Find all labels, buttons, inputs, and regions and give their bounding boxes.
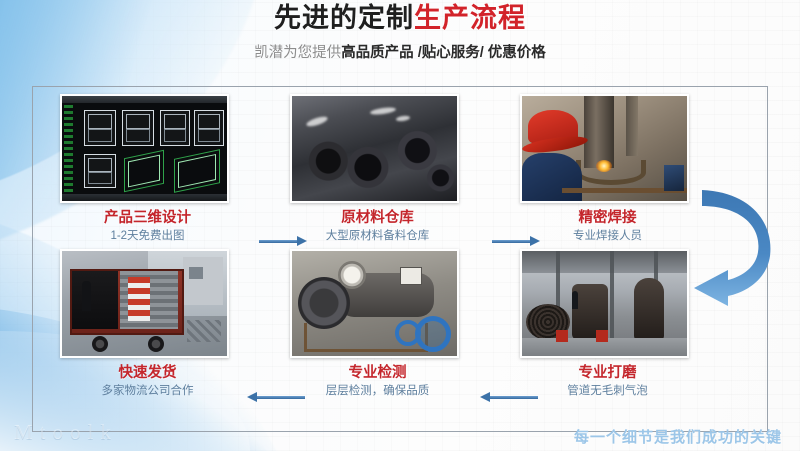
page-subtitle-light: 凯潜为您提供 — [254, 45, 341, 61]
arrow-step5-to-step4 — [247, 392, 305, 402]
step-title-1: 产品三维设计 — [60, 209, 235, 227]
pressure-testing-photo — [290, 249, 459, 358]
page-title: 先进的定制生产流程 — [0, 4, 800, 34]
arrow-step1-to-step2 — [259, 236, 307, 246]
step-title-4: 快速发货 — [60, 364, 235, 382]
step-caption-6: 专业打磨 管道无毛刺气泡 — [520, 364, 695, 399]
workshop-tanks-photo — [520, 249, 689, 358]
footer-note: 每一个细节是我们成功的关键 — [574, 426, 782, 447]
step-caption-4: 快速发货 多家物流公司合作 — [60, 364, 235, 399]
step-card-1: 产品三维设计 1-2天免费出图 — [60, 94, 235, 244]
arrow-curved-row1-to-row2 — [688, 178, 792, 318]
step-card-2: 原材料仓库 大型原材料备料仓库 — [290, 94, 465, 244]
step-card-3: 精密焊接 专业焊接人员 — [520, 94, 695, 244]
header: 先进的定制生产流程 凯潜为您提供高品质产品 /贴心服务/ 优惠价格 — [0, 4, 800, 62]
step-desc-3: 专业焊接人员 — [520, 230, 695, 244]
slide-canvas: 先进的定制生产流程 凯潜为您提供高品质产品 /贴心服务/ 优惠价格 产品三维设计… — [0, 0, 800, 451]
step-caption-1: 产品三维设计 1-2天免费出图 — [60, 209, 235, 244]
step-card-4: 快速发货 多家物流公司合作 — [60, 249, 235, 399]
page-title-dark: 先进的定制 — [274, 3, 414, 33]
arrow-step6-to-step5 — [480, 392, 538, 402]
process-steps-grid: 产品三维设计 1-2天免费出图 原材料仓库 大型原材料备料仓库 — [32, 86, 766, 430]
arrow-step2-to-step3 — [492, 236, 540, 246]
step-desc-1: 1-2天免费出图 — [60, 230, 235, 244]
step-card-6: 专业打磨 管道无毛刺气泡 — [520, 249, 695, 399]
watermark-logo: Mtoolk — [14, 420, 118, 445]
welding-worker-photo — [520, 94, 689, 203]
page-subtitle: 凯潜为您提供高品质产品 /贴心服务/ 优惠价格 — [0, 45, 800, 62]
page-title-red: 生产流程 — [414, 3, 526, 33]
page-subtitle-bold: 高品质产品 /贴心服务/ 优惠价格 — [341, 45, 546, 61]
step-card-5: 专业检测 层层检测，确保品质 — [290, 249, 465, 399]
step-desc-6: 管道无毛刺气泡 — [520, 385, 695, 399]
step-desc-4: 多家物流公司合作 — [60, 385, 235, 399]
cad-drawing-photo — [60, 94, 229, 203]
step-caption-5: 专业检测 层层检测，确保品质 — [290, 364, 465, 399]
step-caption-3: 精密焊接 专业焊接人员 — [520, 209, 695, 244]
step-desc-5: 层层检测，确保品质 — [290, 385, 465, 399]
step-title-5: 专业检测 — [290, 364, 465, 382]
step-title-2: 原材料仓库 — [290, 209, 465, 227]
step-caption-2: 原材料仓库 大型原材料备料仓库 — [290, 209, 465, 244]
truck-loading-photo — [60, 249, 229, 358]
step-title-6: 专业打磨 — [520, 364, 695, 382]
step-desc-2: 大型原材料备料仓库 — [290, 230, 465, 244]
steel-pipes-photo — [290, 94, 459, 203]
step-title-3: 精密焊接 — [520, 209, 695, 227]
